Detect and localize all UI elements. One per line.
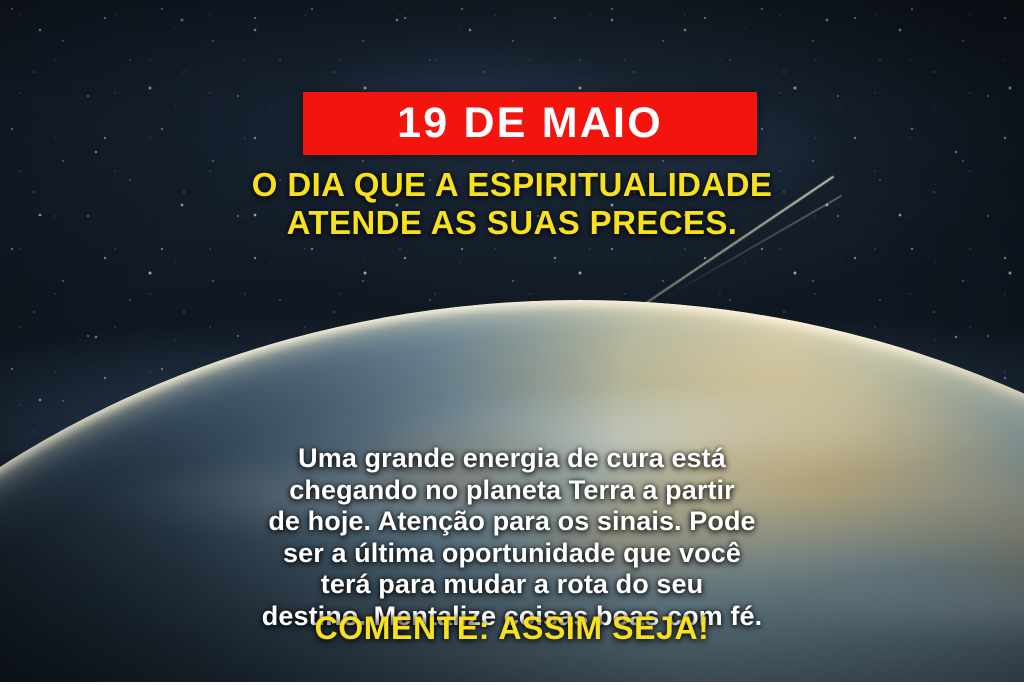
headline: O DIA QUE A ESPIRITUALIDADE ATENDE AS SU…: [0, 166, 1024, 242]
body-line-2: chegando no planeta Terra a partir: [0, 475, 1024, 507]
body-line-3: de hoje. Atenção para os sinais. Pode: [0, 506, 1024, 538]
date-banner-label: 19 DE MAIO: [397, 102, 663, 145]
body-line-4: ser a última oportunidade que você: [0, 538, 1024, 570]
poster-content: 19 DE MAIO O DIA QUE A ESPIRITUALIDADE A…: [0, 0, 1024, 685]
call-to-action-text: COMENTE: ASSIM SEJA!: [0, 611, 1024, 646]
body-copy: Uma grande energia de cura está chegando…: [0, 443, 1024, 632]
headline-line-1: O DIA QUE A ESPIRITUALIDADE: [0, 166, 1024, 204]
body-line-1: Uma grande energia de cura está: [0, 443, 1024, 475]
body-line-5: terá para mudar a rota do seu: [0, 569, 1024, 601]
headline-line-2: ATENDE AS SUAS PRECES.: [0, 204, 1024, 242]
date-banner: 19 DE MAIO: [303, 92, 757, 155]
poster-canvas: 19 DE MAIO O DIA QUE A ESPIRITUALIDADE A…: [0, 0, 1024, 685]
